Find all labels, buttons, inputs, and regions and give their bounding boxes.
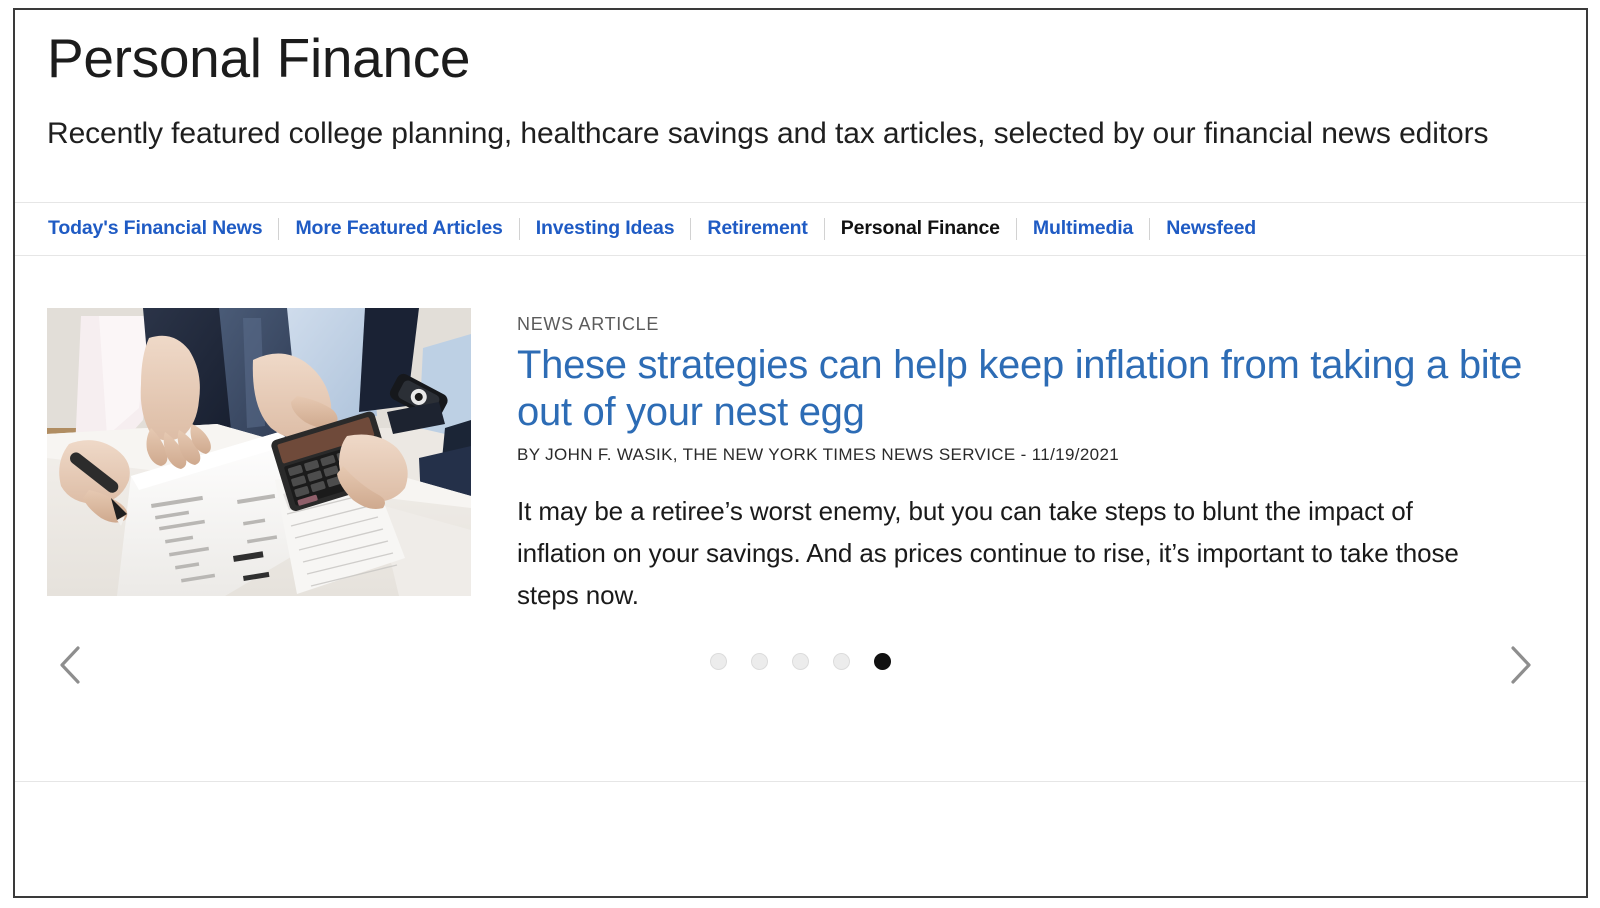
nav-separator	[519, 218, 520, 240]
nav-item-more-featured-articles[interactable]: More Featured Articles	[294, 217, 503, 240]
article-thumbnail-image	[47, 308, 471, 596]
nav-item-newsfeed[interactable]: Newsfeed	[1165, 217, 1257, 240]
carousel-dot-4[interactable]	[833, 653, 850, 670]
nav-item-investing-ideas[interactable]: Investing Ideas	[535, 217, 676, 240]
nav-separator	[278, 218, 279, 240]
header-spacer	[47, 156, 1546, 202]
article-summary: It may be a retiree’s worst enemy, but y…	[517, 491, 1492, 616]
page-subtitle: Recently featured college planning, heal…	[47, 112, 1507, 156]
bottom-divider	[15, 781, 1586, 782]
nav-item-today-s-financial-news[interactable]: Today's Financial News	[47, 217, 263, 240]
article-kicker: NEWS ARTICLE	[517, 314, 1546, 335]
section-nav: Today's Financial NewsMore Featured Arti…	[47, 203, 1257, 255]
nav-item-personal-finance: Personal Finance	[840, 217, 1001, 240]
article-text-column: NEWS ARTICLE These strategies can help k…	[517, 308, 1546, 616]
nav-separator	[690, 218, 691, 240]
nav-item-retirement[interactable]: Retirement	[706, 217, 808, 240]
personal-finance-widget: Personal Finance Recently featured colle…	[13, 8, 1588, 898]
section-nav-bar: Today's Financial NewsMore Featured Arti…	[15, 202, 1586, 256]
nav-item-multimedia[interactable]: Multimedia	[1032, 217, 1134, 240]
carousel-dot-1[interactable]	[710, 653, 727, 670]
featured-article: NEWS ARTICLE These strategies can help k…	[15, 256, 1586, 616]
article-byline: BY JOHN F. WASIK, THE NEW YORK TIMES NEW…	[517, 445, 1546, 465]
widget-header: Personal Finance Recently featured colle…	[15, 10, 1586, 202]
carousel-pagination-dots	[15, 653, 1586, 670]
nav-separator	[1016, 218, 1017, 240]
nav-separator	[1149, 218, 1150, 240]
carousel-dot-3[interactable]	[792, 653, 809, 670]
article-thumbnail[interactable]	[47, 308, 471, 596]
page-root: Personal Finance Recently featured colle…	[0, 0, 1600, 908]
featured-article-carousel: NEWS ARTICLE These strategies can help k…	[15, 256, 1586, 804]
page-title: Personal Finance	[47, 28, 1546, 90]
article-headline-link[interactable]: These strategies can help keep inflation…	[517, 343, 1522, 434]
carousel-dot-5[interactable]	[874, 653, 891, 670]
nav-separator	[824, 218, 825, 240]
carousel-dot-2[interactable]	[751, 653, 768, 670]
